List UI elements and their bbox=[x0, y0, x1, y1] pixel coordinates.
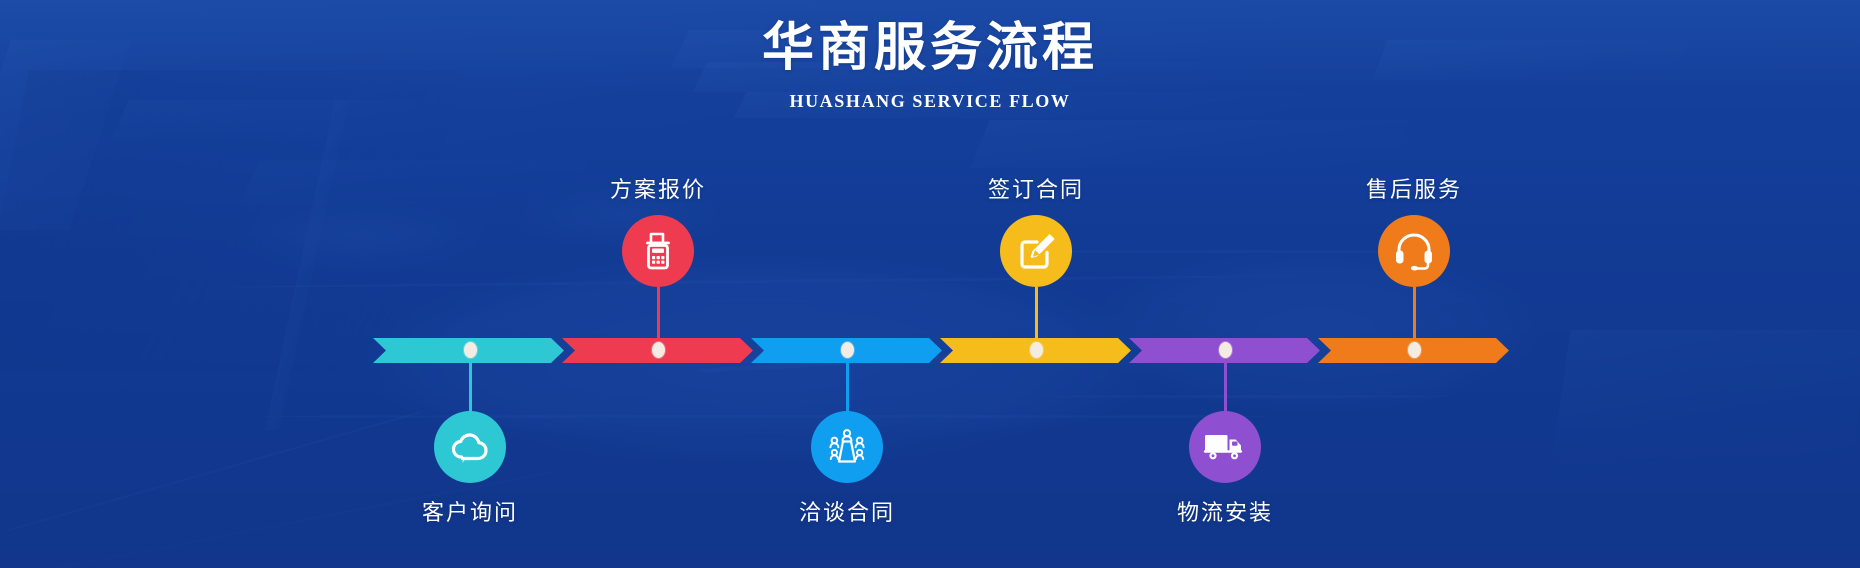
meeting-table-icon bbox=[826, 428, 868, 466]
flow-connector-3 bbox=[846, 350, 849, 412]
flow-icon-circle-2[interactable] bbox=[622, 215, 694, 287]
flow-node-dot-1 bbox=[464, 342, 477, 358]
flow-icon-circle-6[interactable] bbox=[1378, 215, 1450, 287]
service-flow-diagram: 客户询问 bbox=[0, 0, 1860, 568]
flow-label-2: 方案报价 bbox=[610, 172, 706, 204]
flow-connector-4 bbox=[1035, 287, 1038, 343]
headset-support-icon bbox=[1393, 231, 1435, 271]
flow-label-6: 售后服务 bbox=[1366, 172, 1462, 204]
flow-node-dot-5 bbox=[1219, 342, 1232, 358]
flow-connector-1 bbox=[469, 350, 472, 412]
flow-icon-circle-3[interactable] bbox=[811, 411, 883, 483]
flow-icon-circle-5[interactable] bbox=[1189, 411, 1261, 483]
calculator-receipt-icon bbox=[640, 231, 676, 271]
delivery-truck-icon bbox=[1203, 430, 1247, 464]
flow-label-5: 物流安装 bbox=[1177, 495, 1273, 527]
flow-label-3: 洽谈合同 bbox=[799, 495, 895, 527]
flow-node-dot-3 bbox=[841, 342, 854, 358]
flow-icon-circle-4[interactable] bbox=[1000, 215, 1072, 287]
flow-node-dot-2 bbox=[652, 342, 665, 358]
service-flow-banner: 华商服务流程 HUASHANG SERVICE FLOW 客户询问 bbox=[0, 0, 1860, 568]
flow-node-dot-6 bbox=[1408, 342, 1421, 358]
flow-node-dot-4 bbox=[1030, 342, 1043, 358]
flow-icon-circle-1[interactable] bbox=[434, 411, 506, 483]
pen-edit-icon bbox=[1016, 231, 1056, 271]
cloud-speech-icon bbox=[450, 430, 490, 464]
flow-connector-5 bbox=[1224, 350, 1227, 412]
flow-connector-2 bbox=[657, 287, 660, 343]
flow-connector-6 bbox=[1413, 287, 1416, 343]
flow-label-1: 客户询问 bbox=[422, 495, 518, 527]
flow-label-4: 签订合同 bbox=[988, 172, 1084, 204]
